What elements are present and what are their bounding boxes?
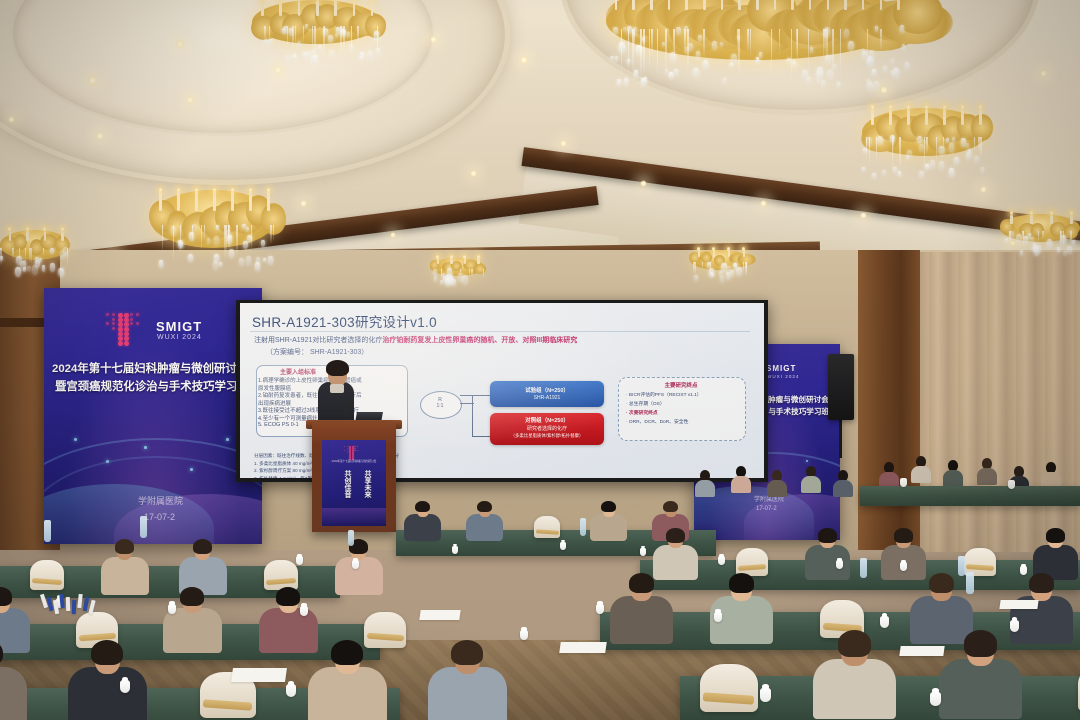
chandelier-crystal: [919, 171, 923, 178]
chandelier-strand: [936, 137, 937, 164]
chandelier-strand: [0, 248, 1, 266]
chandelier-crystal: [902, 44, 905, 50]
chandelier-crystal: [792, 61, 796, 68]
conference-photo: SMIGT WUXI 2024 2024年第十七届妇科肿瘤与微创研讨会 暨宫颈癌…: [0, 0, 1080, 720]
audience-torso: [731, 476, 751, 493]
logo-dot: [357, 450, 358, 451]
chandelier-strand: [303, 26, 304, 43]
chandelier-crystal: [643, 77, 647, 83]
chair: [534, 516, 560, 538]
teacup: [596, 604, 604, 614]
arm-experimental-detail: SHR-A1921: [490, 395, 604, 401]
audience-torso: [259, 608, 319, 653]
teacup-lid: [169, 601, 174, 604]
chandelier-candle: [713, 250, 716, 257]
chandelier-strand: [702, 262, 703, 269]
teacup-lid: [882, 613, 888, 617]
chandelier-candle: [897, 0, 900, 10]
chandelier-crystal: [23, 267, 26, 273]
chandelier-strand: [292, 26, 293, 50]
slide-subtitle-highlight: 治疗铂耐药复发上皮性卵巢癌的随机、开放、对照III期临床研究: [382, 337, 577, 344]
logo-dot: [354, 450, 355, 451]
chandelier-strand: [270, 225, 271, 244]
chandelier-strand: [771, 29, 772, 78]
chandelier-strand: [869, 137, 870, 169]
chandelier-crystal: [730, 63, 733, 68]
downlight: [8, 116, 15, 123]
chandelier-strand: [25, 248, 26, 261]
teacup: [836, 560, 843, 569]
downlight: [186, 96, 194, 104]
criteria-line: 5. ECOG PS 0-1: [258, 422, 299, 428]
teacup: [286, 684, 296, 697]
chandelier-strand: [1070, 231, 1071, 246]
chandelier-crystal: [442, 273, 445, 278]
chandelier-strand: [201, 225, 202, 252]
chandelier-crystal: [1047, 239, 1053, 249]
teacup: [1010, 620, 1019, 632]
chandelier-candle: [943, 109, 946, 125]
chandelier-candle: [632, 0, 635, 10]
chandelier-candle: [195, 191, 198, 211]
chandelier-crystal: [759, 52, 762, 57]
teacup-lid: [715, 609, 720, 612]
connector-v: [472, 395, 473, 437]
chandelier-candle: [925, 109, 928, 125]
podium-panel: 2024年第十七届妇科肿瘤与微创研讨会 共享未来 共创佳音: [322, 440, 386, 526]
chandelier-candle: [743, 250, 746, 257]
teacup-lid: [762, 684, 769, 689]
chair: [700, 664, 758, 712]
audience-hair: [477, 501, 492, 513]
chandelier-strand: [228, 225, 229, 242]
audience-torso: [813, 659, 895, 719]
chandelier-crystal: [954, 157, 959, 166]
audience-hair: [894, 528, 912, 542]
connector-in: [460, 403, 474, 404]
chandelier-crystal: [1072, 240, 1075, 245]
chandelier-crystal: [736, 267, 741, 276]
downlight: [390, 232, 396, 238]
chandelier-strand: [236, 225, 237, 256]
chandelier-strand: [808, 29, 809, 73]
chandelier-crystal: [905, 62, 909, 70]
audience-torso: [805, 545, 850, 580]
chandelier-strand: [737, 29, 738, 52]
logo-dot: [130, 318, 133, 321]
chandelier-crystal: [893, 68, 899, 78]
arm-experimental-box: [490, 381, 604, 407]
chandelier-crystal: [440, 280, 443, 285]
logo-dot: [112, 318, 115, 321]
chandelier-crystal: [821, 80, 825, 87]
chandelier-crystal: [447, 268, 452, 277]
banner-title-line2: 暨宫颈癌规范化诊治与手术技巧学习班: [55, 378, 249, 394]
arm-experimental-label: 试验组（N=250）: [490, 386, 604, 394]
chandelier-crystal: [907, 150, 912, 158]
chandelier-flame: [231, 188, 234, 192]
teacup: [714, 612, 722, 622]
teacup-lid: [597, 601, 602, 604]
arm-control-detail2: （多柔比星脂质体/紫杉醇/拓扑替康）: [490, 433, 604, 439]
speaker-collar: [330, 384, 344, 393]
podium-subtitle: 2024年第十七届妇科肿瘤与微创研讨会: [324, 460, 384, 463]
water-bottle: [860, 558, 867, 578]
teacup: [560, 542, 566, 550]
teacup-lid: [297, 554, 301, 557]
arm-control-detail: 研究者选择的化疗: [490, 425, 604, 432]
audience-torso: [801, 476, 821, 493]
endpoints-box-title: 主要研究终点: [618, 381, 744, 389]
chandelier-candle: [961, 109, 964, 125]
notepad: [559, 642, 607, 653]
teacup: [520, 630, 528, 640]
chandelier-crystal: [219, 262, 222, 267]
audience-torso: [977, 468, 997, 485]
teacup-lid: [1021, 564, 1025, 567]
chandelier-strand: [264, 26, 265, 41]
chandelier-crystal: [674, 69, 678, 75]
chandelier-crystal: [1016, 234, 1021, 243]
chandelier-candle: [353, 1, 356, 16]
audience-torso: [767, 480, 787, 497]
chandelier-flame: [1010, 211, 1013, 215]
chandelier-strand: [695, 262, 696, 276]
chandelier-strand: [876, 137, 877, 164]
chandelier-candle: [279, 1, 282, 16]
chandelier-crystal: [329, 50, 334, 58]
chandelier-strand: [162, 225, 163, 253]
chandelier-strand: [665, 29, 666, 71]
logo-dot: [106, 313, 109, 316]
chandelier-candle: [267, 191, 270, 211]
podium-vertical-text-left: 共创佳音: [342, 470, 352, 498]
audience-hair: [663, 501, 678, 513]
chandelier-flame: [267, 188, 270, 192]
chandelier-crystal: [981, 167, 984, 172]
podium-vertical-text-right: 共享未来: [362, 470, 372, 498]
audience-hair: [91, 640, 123, 665]
chandelier-strand: [866, 137, 867, 160]
audience-hair: [729, 573, 754, 593]
chandelier-strand: [469, 269, 470, 278]
chandelier-strand: [738, 29, 739, 78]
chandelier-candle: [9, 231, 12, 241]
chandelier-crystal: [723, 78, 726, 83]
chandelier-candle: [298, 1, 301, 16]
chandelier-candle: [261, 1, 264, 16]
slide-subtitle-pre: 注射用SHR-A1921对比研究者选择的化疗: [254, 337, 382, 344]
chandelier-crystal: [213, 261, 218, 270]
audience-hair: [276, 587, 300, 606]
chandelier-crystal: [946, 138, 949, 143]
chandelier-strand: [632, 29, 633, 75]
chandelier-strand: [750, 29, 751, 59]
chandelier-candle: [231, 191, 234, 211]
teacup: [718, 556, 725, 565]
downlight: [300, 200, 307, 207]
chandelier-strand: [673, 29, 674, 58]
chandelier-candle: [756, 0, 759, 10]
teacup: [930, 692, 941, 706]
chandelier-flame: [177, 188, 180, 192]
chandelier-crystal: [862, 167, 865, 172]
audience-hair: [451, 640, 483, 665]
chandelier-strand: [797, 29, 798, 63]
notepad: [419, 610, 460, 620]
smigt-logo-subtext: WUXI 2024: [157, 334, 202, 341]
audience-hair: [193, 539, 212, 554]
chandelier-strand: [173, 225, 174, 263]
smigt-logo-text: SMIGT: [156, 319, 202, 334]
chandelier-crystal: [610, 56, 613, 61]
slide-subtitle: 注射用SHR-A1921对比研究者选择的化疗治疗铂耐药复发上皮性卵巢癌的随机、开…: [254, 335, 577, 345]
chandelier-strand: [684, 29, 685, 55]
audience-hair: [838, 630, 871, 656]
downlight: [470, 170, 477, 177]
chandelier-strand: [980, 137, 981, 160]
slide-title: SHR-A1921-303研究设计v1.0: [252, 311, 437, 331]
chandelier-strand: [978, 137, 979, 152]
chandelier-crystal: [624, 78, 628, 85]
chandelier-candle: [979, 109, 982, 125]
chandelier-crystal: [268, 256, 273, 265]
chandelier-strand: [471, 269, 472, 278]
chandelier-crystal: [188, 254, 193, 262]
chandelier-crystal: [58, 268, 63, 277]
chandelier-flame: [249, 188, 252, 192]
back-curtain: [900, 252, 1080, 552]
chandelier-strand: [880, 29, 881, 51]
chandelier-candle: [827, 0, 830, 10]
teacup-lid: [932, 688, 939, 693]
chandelier-strand: [832, 29, 833, 76]
chair: [30, 560, 64, 590]
chandelier-strand: [31, 248, 32, 265]
logo-dot: [136, 313, 139, 316]
water-bottle: [966, 572, 974, 594]
chandelier-candle: [26, 231, 29, 241]
chandelier-strand: [926, 137, 927, 154]
chandelier-crystal: [293, 54, 296, 60]
teacup-lid: [837, 558, 841, 561]
chandelier-candle: [450, 258, 453, 264]
chandelier-flame: [450, 255, 453, 259]
chandelier-strand: [827, 29, 828, 66]
chandelier-crystal: [688, 43, 693, 51]
chandelier-candle: [249, 191, 252, 211]
chandelier-candle: [703, 0, 706, 10]
chandelier-strand: [351, 26, 352, 59]
chandelier-crystal: [891, 59, 895, 65]
teacup: [1020, 566, 1027, 575]
water-bottle: [958, 556, 965, 576]
chandelier-candle: [316, 1, 319, 16]
pa-speaker-stand: [839, 418, 842, 458]
chandelier-strand: [710, 262, 711, 277]
audience-torso: [911, 466, 931, 483]
audience-torso: [943, 470, 963, 487]
chandelier-candle: [721, 0, 724, 10]
chandelier-candle: [844, 0, 847, 10]
chandelier-crystal: [925, 164, 929, 170]
banner-right-footer-date: 17-07-2: [756, 506, 777, 512]
audience-torso: [466, 514, 503, 542]
logo-dot: [124, 341, 129, 346]
chandelier-crystal: [757, 58, 760, 63]
chandelier-strand: [192, 225, 193, 245]
chandelier-candle: [880, 0, 883, 10]
audience-torso: [653, 545, 698, 580]
chandelier-crystal: [848, 41, 854, 51]
chandelier-candle: [477, 258, 480, 264]
head-table: [860, 486, 1080, 506]
chandelier-crystal: [434, 276, 438, 282]
chandelier-strand: [343, 26, 344, 55]
logo-dot: [118, 313, 123, 318]
water-bottle: [44, 520, 51, 542]
chandelier: [606, 0, 906, 118]
chandelier-candle: [650, 0, 653, 10]
chandelier-flame: [1030, 211, 1033, 215]
teacup-lid: [301, 603, 306, 606]
chandelier-strand: [29, 248, 30, 263]
chandelier-candle: [1030, 215, 1033, 225]
chandelier-crystal: [693, 68, 699, 78]
chandelier-crystal: [726, 272, 731, 280]
chandelier: [862, 108, 988, 196]
chandelier-crystal: [844, 29, 849, 37]
chandelier-flame: [1070, 211, 1073, 215]
chandelier-candle: [159, 191, 162, 211]
chandelier-strand: [295, 26, 296, 47]
teacup-lid: [353, 558, 357, 561]
chandelier-candle: [177, 191, 180, 211]
water-bottle: [140, 516, 147, 538]
chandelier-candle: [738, 0, 741, 10]
logo-dot: [347, 452, 348, 453]
teacup: [300, 606, 308, 616]
chandelier-strand: [251, 225, 252, 252]
banner-footer-date: 17-07-2: [144, 512, 175, 522]
chandelier-crystal: [1034, 246, 1040, 255]
audience-hair: [415, 501, 430, 513]
chandelier-crystal: [207, 238, 210, 243]
chandelier-strand: [19, 248, 20, 263]
teacup: [900, 478, 907, 487]
chandelier-crystal: [255, 262, 260, 271]
chandelier-strand: [204, 225, 205, 242]
chandelier-strand: [483, 269, 484, 279]
chair: [264, 560, 298, 590]
chandelier-strand: [377, 26, 378, 60]
banner-title-line1: 2024年第十七届妇科肿瘤与微创研讨会: [52, 360, 248, 376]
chandelier-crystal: [974, 156, 978, 163]
chandelier-crystal: [898, 171, 901, 177]
chandelier-candle: [61, 231, 64, 241]
teacup-lid: [719, 554, 723, 557]
chandelier-flame: [26, 227, 29, 231]
chandelier-flame: [477, 255, 480, 259]
audience-torso: [404, 514, 441, 542]
logo-dot: [106, 322, 109, 325]
chandelier-crystal: [917, 136, 922, 144]
chandelier-strand: [924, 137, 925, 170]
chandelier-candle: [791, 0, 794, 10]
teacup-lid: [288, 681, 294, 685]
chandelier-crystal: [360, 56, 363, 61]
endpoint-line: · BICR评估的PFS（RECIST v1.1）: [626, 391, 702, 398]
teacup: [900, 562, 907, 571]
chandelier-candle: [213, 191, 216, 211]
chandelier-crystal: [1063, 251, 1066, 257]
logo-dot: [344, 446, 345, 447]
chandelier-strand: [1038, 231, 1039, 244]
teacup: [168, 604, 176, 614]
chandelier-strand: [621, 29, 622, 79]
chandelier-crystal: [367, 51, 373, 61]
smigt-logo-mark: [106, 313, 148, 347]
chandelier-strand: [867, 29, 868, 63]
chandelier-candle: [1050, 215, 1053, 225]
chandelier-flame: [159, 188, 162, 192]
audience-hair: [180, 587, 204, 606]
audience-torso: [308, 667, 388, 720]
chandelier-crystal: [451, 279, 455, 286]
chandelier-strand: [1022, 231, 1023, 240]
chandelier-candle: [1070, 215, 1073, 225]
chandelier-crystal: [676, 27, 680, 35]
chandelier-candle: [615, 0, 618, 10]
downlight: [88, 76, 97, 85]
smigt-logo-subtext-right: WUXI 2024: [767, 374, 800, 379]
chandelier-strand: [974, 137, 975, 153]
connector-h2: [472, 436, 490, 437]
chandelier-strand: [640, 29, 641, 83]
teacup: [296, 556, 303, 565]
chandelier-candle: [685, 0, 688, 10]
connector-h1: [460, 395, 490, 396]
chandelier-crystal: [445, 278, 450, 286]
water-bottle: [580, 518, 586, 536]
chandelier-crystal: [246, 256, 252, 266]
chandelier-crystal: [35, 257, 39, 263]
chandelier-strand: [314, 26, 315, 58]
logo-dot: [118, 341, 123, 346]
chandelier-crystal: [303, 52, 306, 57]
chandelier-crystal: [462, 275, 468, 284]
chandelier-strand: [628, 29, 629, 77]
chandelier-crystal: [893, 167, 897, 174]
podium-logo-mark: [344, 446, 362, 457]
chandelier-crystal: [243, 241, 248, 250]
audience-torso: [163, 608, 223, 653]
chandelier-strand: [273, 225, 274, 242]
chandelier-candle: [907, 109, 910, 125]
chandelier-crystal: [286, 55, 290, 61]
chandelier-strand: [643, 29, 644, 77]
criteria-box-title: 主要入组标准: [280, 367, 316, 376]
chandelier-crystal: [669, 72, 673, 78]
water-bottle: [348, 530, 354, 546]
audience-hair: [601, 501, 616, 513]
chandelier-crystal: [930, 160, 935, 169]
chandelier-crystal: [634, 70, 638, 78]
downlight: [860, 212, 867, 219]
chandelier: [1000, 214, 1080, 264]
chandelier-crystal: [882, 170, 886, 177]
logo-dot: [357, 446, 358, 447]
